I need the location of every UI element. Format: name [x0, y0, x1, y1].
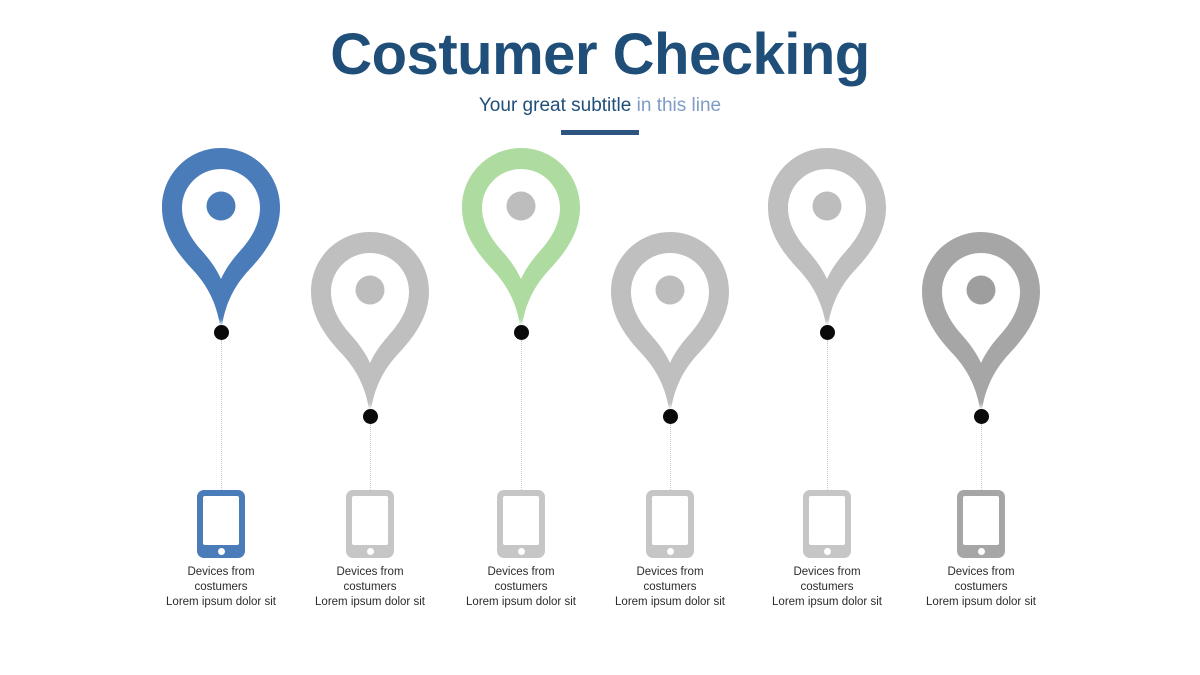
device-tablet-icon [646, 490, 694, 558]
pin-tip-dot [820, 325, 835, 340]
pin-device-connector-line [981, 424, 983, 490]
pin-device-connector-line [221, 340, 223, 490]
pin-device-connector-line [827, 340, 829, 490]
device-tablet-icon [957, 490, 1005, 558]
device-home-button [218, 548, 225, 555]
device-home-button [518, 548, 525, 555]
pin-device-connector-line [521, 340, 523, 490]
pin-tip-dot [663, 409, 678, 424]
column-caption: Devices from costumersLorem ipsum dolor … [881, 565, 1081, 610]
caption-heading: Devices from costumers [478, 565, 564, 595]
caption-heading: Devices from costumers [938, 565, 1024, 595]
device-home-button [824, 548, 831, 555]
map-pin-icon[interactable] [922, 232, 1040, 428]
device-tablet-icon [497, 490, 545, 558]
caption-heading: Devices from costumers [784, 565, 870, 595]
caption-subtext: Lorem ipsum dolor sit [881, 595, 1081, 610]
caption-heading: Devices from costumers [627, 565, 713, 595]
caption-heading: Devices from costumers [178, 565, 264, 595]
map-pin-icon[interactable] [162, 148, 280, 344]
map-pin-icon[interactable] [462, 148, 580, 344]
device-screen [503, 496, 539, 545]
device-home-button [367, 548, 374, 555]
device-home-button [978, 548, 985, 555]
map-pin-icon[interactable] [611, 232, 729, 428]
pin-tip-dot [214, 325, 229, 340]
device-tablet-icon [346, 490, 394, 558]
device-screen [809, 496, 845, 545]
pin-tip-dot [974, 409, 989, 424]
infographic-stage: Devices from costumersLorem ipsum dolor … [0, 0, 1200, 675]
infographic-column-6[interactable]: Devices from costumersLorem ipsum dolor … [881, 0, 1081, 675]
pin-device-connector-line [670, 424, 672, 490]
device-tablet-icon [803, 490, 851, 558]
map-pin-icon[interactable] [768, 148, 886, 344]
map-pin-icon[interactable] [311, 232, 429, 428]
device-screen [652, 496, 688, 545]
device-screen [203, 496, 239, 545]
caption-heading: Devices from costumers [327, 565, 413, 595]
device-tablet-icon [197, 490, 245, 558]
pin-tip-dot [363, 409, 378, 424]
pin-device-connector-line [370, 424, 372, 490]
pin-tip-dot [514, 325, 529, 340]
device-screen [352, 496, 388, 545]
device-home-button [667, 548, 674, 555]
device-screen [963, 496, 999, 545]
